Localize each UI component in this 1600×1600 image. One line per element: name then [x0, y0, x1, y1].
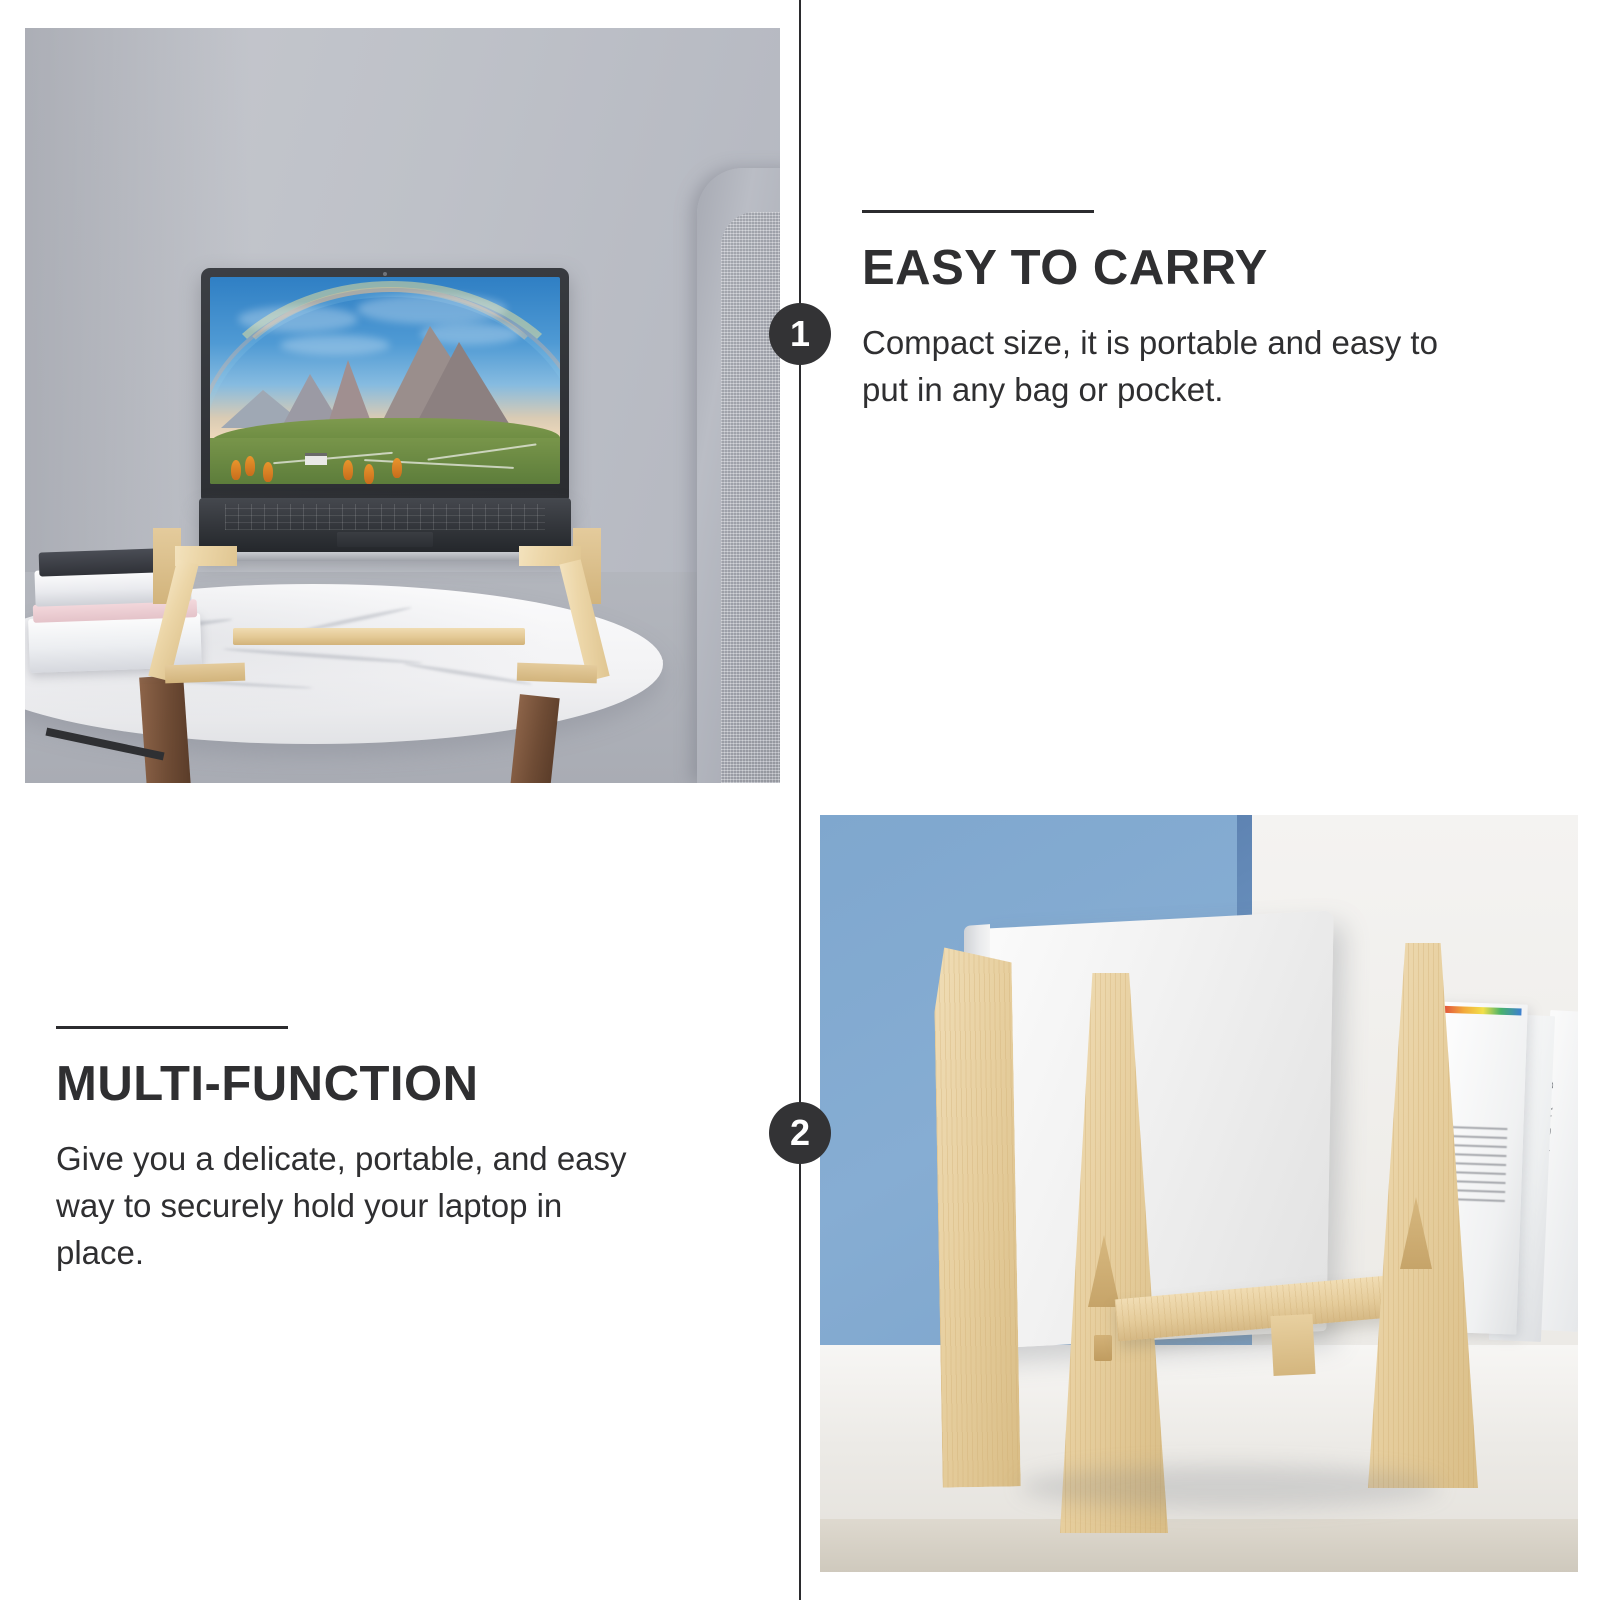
webcam-icon [383, 272, 387, 276]
feature-block-1: EASY TO CARRY Compact size, it is portab… [862, 210, 1442, 414]
feature-title-2: MULTI-FUNCTION [56, 1059, 636, 1110]
step-badge-1: 1 [769, 303, 831, 365]
feature-description-1: Compact size, it is portable and easy to… [862, 320, 1442, 414]
laptop-keyboard-base [199, 498, 571, 554]
stand-rail-block [1270, 1314, 1315, 1376]
accent-line-1 [862, 210, 1094, 213]
stand-foot-right [517, 663, 598, 684]
stand-foot-left [165, 663, 246, 684]
feature-block-2: MULTI-FUNCTION Give you a delicate, port… [56, 1026, 636, 1277]
laptop-lid [201, 268, 569, 500]
stand-shadow [1020, 1465, 1440, 1509]
alpine-house [305, 453, 327, 465]
feature-title-1: EASY TO CARRY [862, 243, 1442, 294]
stand-upright-back [933, 946, 1020, 1487]
step-badge-2: 2 [769, 1102, 831, 1164]
desk-front-edge [820, 1519, 1578, 1572]
laptop-front-lip [199, 552, 571, 561]
table-leg-left [139, 675, 191, 783]
infographic-page: Graphic Design The Storyboard Design Cou… [0, 0, 1600, 1600]
book-color-strip [1441, 1006, 1521, 1016]
stand-crossbar [233, 628, 525, 645]
trackpad [337, 532, 433, 547]
keyboard-keys [225, 504, 545, 530]
vertical-divider [799, 0, 801, 1600]
chair [697, 168, 780, 783]
mountain-secondary-peak [413, 342, 513, 430]
laptop-screen-wallpaper [210, 277, 560, 484]
photo-vertical-stand: Graphic Design The Storyboard Design Cou… [820, 815, 1578, 1572]
photo-laptop-on-stand [25, 28, 780, 783]
accent-line-2 [56, 1026, 288, 1029]
laptop [201, 268, 569, 500]
feature-description-2: Give you a delicate, portable, and easy … [56, 1136, 636, 1277]
stand-notch-left [1094, 1335, 1112, 1361]
chair-fabric-texture [721, 212, 780, 783]
